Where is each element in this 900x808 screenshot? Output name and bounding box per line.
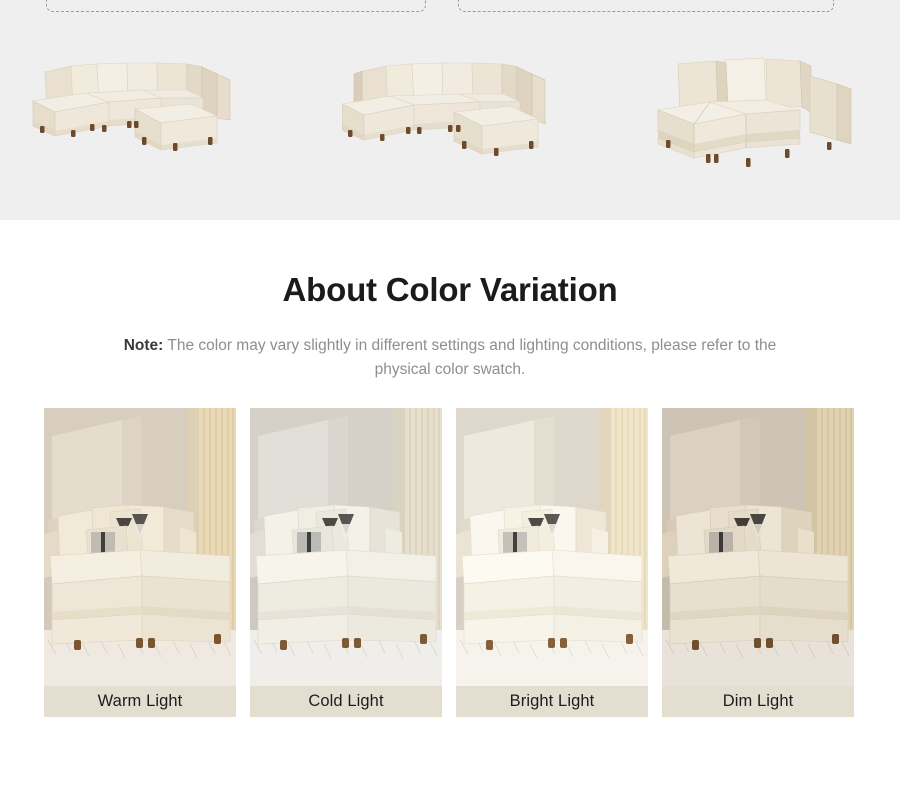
note-label: Note: [124, 337, 164, 354]
swatch-photo-warm-light [44, 408, 236, 686]
sofa-config-2 [342, 54, 592, 184]
bottom-spacer [0, 717, 900, 802]
sofa-configuration-row [0, 44, 900, 184]
swatch-label-cold-light: Cold Light [250, 686, 442, 717]
swatch-card-cold-light[interactable]: Cold Light [250, 408, 442, 717]
about-color-variation-section: About Color Variation Note: The color ma… [0, 220, 900, 802]
note-text-line1: The color may vary slightly in different… [167, 337, 647, 354]
swatch-card-dim-light[interactable]: Dim Light [662, 408, 854, 717]
sofa-config-1 [31, 54, 281, 184]
dashed-box-left [46, 0, 426, 12]
page-title: About Color Variation [0, 272, 900, 308]
swatch-photo-bright-light [456, 408, 648, 686]
swatch-card-bright-light[interactable]: Bright Light [456, 408, 648, 717]
note-block: Note: The color may vary slightly in dif… [0, 334, 900, 382]
color-variation-grid: Warm Light [44, 408, 856, 717]
swatch-label-dim-light: Dim Light [662, 686, 854, 717]
swatch-label-bright-light: Bright Light [456, 686, 648, 717]
dashed-box-right [458, 0, 834, 12]
swatch-photo-dim-light [662, 408, 854, 686]
sofa-config-3 [654, 54, 869, 184]
swatch-card-warm-light[interactable]: Warm Light [44, 408, 236, 717]
swatch-label-warm-light: Warm Light [44, 686, 236, 717]
product-configuration-section [0, 0, 900, 220]
swatch-photo-cold-light [250, 408, 442, 686]
